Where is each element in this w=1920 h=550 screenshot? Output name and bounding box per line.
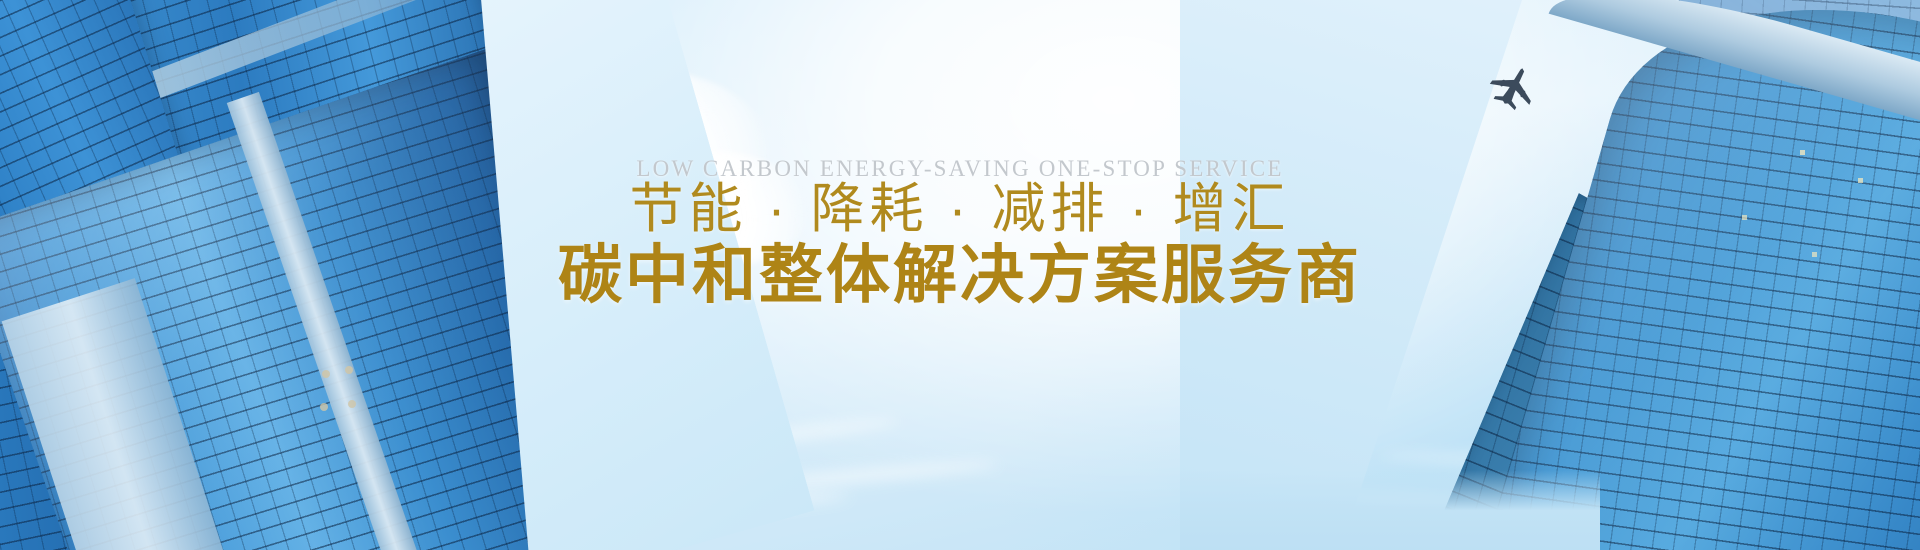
airplane-icon [1484, 62, 1542, 114]
banner-headline: 碳中和整体解决方案服务商 [0, 234, 1920, 317]
hero-banner: LOW CARBON ENERGY-SAVING ONE-STOP SERVIC… [0, 0, 1920, 550]
sky-strip-bottom-right [1180, 470, 1600, 550]
window-light-speck [1800, 150, 1805, 155]
window-highlight-dot [320, 403, 328, 411]
window-highlight-dot [345, 366, 353, 374]
window-highlight-dot [348, 400, 356, 408]
window-highlight-dot [322, 370, 330, 378]
